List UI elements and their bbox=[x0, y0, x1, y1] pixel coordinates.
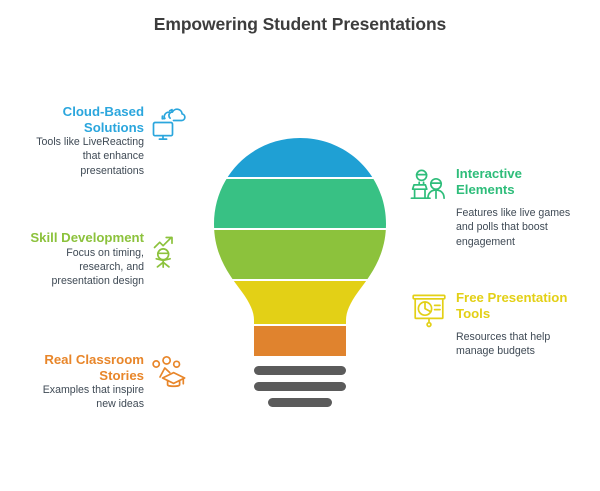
bulb-base-line-1 bbox=[254, 366, 346, 375]
feature-cloud-based-solutions: Cloud-Based Solutions Tools like LiveRea… bbox=[26, 104, 198, 178]
band-yellow bbox=[210, 281, 390, 324]
feature-text-stories: Real Classroom Stories Examples that ins… bbox=[26, 352, 144, 412]
feature-title-cloud: Cloud-Based Solutions bbox=[26, 104, 144, 135]
presenter-audience-icon bbox=[408, 166, 450, 208]
feature-free-presentation-tools: Free Presentation Tools Resources that h… bbox=[408, 290, 588, 359]
band-orange bbox=[210, 326, 390, 366]
feature-title-interactive: Interactive Elements bbox=[456, 166, 580, 197]
feature-real-classroom-stories: Real Classroom Stories Examples that ins… bbox=[26, 352, 198, 412]
feature-description-stories: Examples that inspire new ideas bbox=[26, 383, 144, 412]
band-blue bbox=[210, 134, 390, 177]
feature-text-free: Free Presentation Tools Resources that h… bbox=[456, 290, 580, 359]
feature-description-interactive: Features like live games and polls that … bbox=[456, 206, 580, 249]
feature-skill-development: Skill Development Focus on timing, resea… bbox=[26, 230, 198, 288]
feature-interactive-elements: Interactive Elements Features like live … bbox=[408, 166, 588, 249]
lightbulb-graphic bbox=[210, 134, 390, 416]
feature-title-skill: Skill Development bbox=[26, 230, 144, 246]
bulb-base-line-3 bbox=[268, 398, 332, 407]
graduation-cap-icon bbox=[148, 352, 190, 394]
feature-text-skill: Skill Development Focus on timing, resea… bbox=[26, 230, 144, 288]
bulb-base-line-2 bbox=[254, 382, 346, 391]
feature-title-free: Free Presentation Tools bbox=[456, 290, 580, 321]
feature-description-cloud: Tools like LiveReacting that enhance pre… bbox=[26, 135, 144, 178]
band-light-green bbox=[210, 230, 390, 279]
band-teal-green bbox=[210, 179, 390, 228]
page-title: Empowering Student Presentations bbox=[0, 14, 600, 35]
feature-title-stories: Real Classroom Stories bbox=[26, 352, 144, 383]
presentation-board-pie-chart-icon bbox=[408, 290, 450, 332]
cloud-sync-monitor-icon bbox=[148, 104, 190, 146]
feature-text-cloud: Cloud-Based Solutions Tools like LiveRea… bbox=[26, 104, 144, 178]
feature-text-interactive: Interactive Elements Features like live … bbox=[456, 166, 580, 249]
person-growth-arrow-icon bbox=[148, 230, 190, 272]
feature-description-skill: Focus on timing, research, and presentat… bbox=[26, 246, 144, 289]
feature-description-free: Resources that help manage budgets bbox=[456, 330, 580, 359]
